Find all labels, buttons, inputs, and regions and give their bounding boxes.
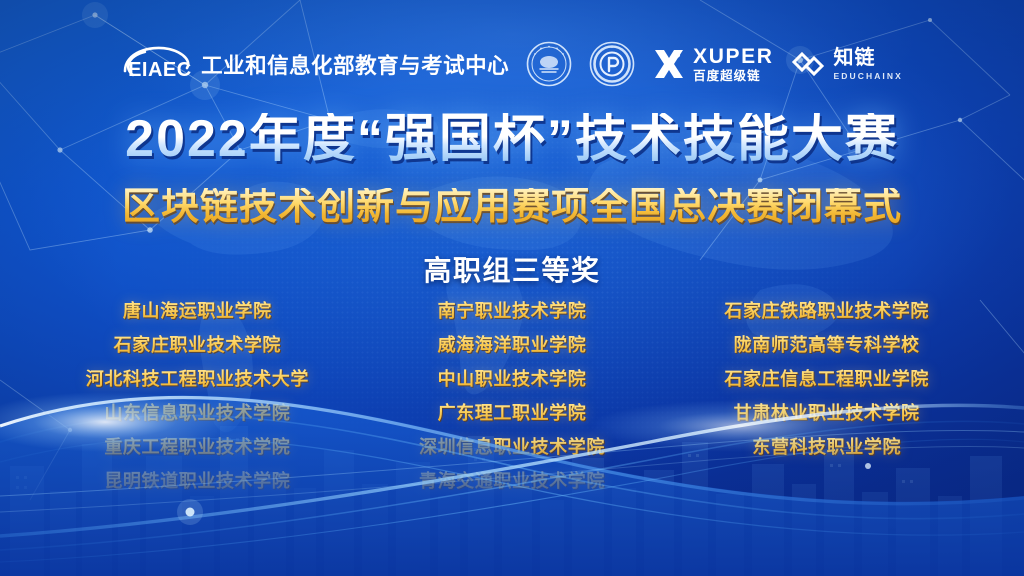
- winner-item: 石家庄铁路职业技术学院: [669, 294, 984, 328]
- eiaec-logo: EIAEC 工业和信息化部教育与考试中心: [121, 44, 509, 84]
- chain-link-icon: [790, 50, 826, 78]
- sponsor-logo-bar: EIAEC 工业和信息化部教育与考试中心: [0, 33, 1024, 95]
- zhilian-name-cn: 知链: [833, 48, 902, 68]
- award-category-label: 高职组三等奖: [0, 249, 1024, 289]
- winner-item: 南宁职业技术学院: [355, 294, 670, 328]
- university-seal-2-icon: [589, 41, 635, 87]
- zhilian-name-en: EDUCHAINX: [833, 72, 902, 81]
- light-wave-decoration: [0, 346, 1024, 576]
- zhilian-logo: 知链 EDUCHAINX: [790, 48, 902, 81]
- university-seal-1-icon: [526, 41, 572, 87]
- xuper-x-icon: [652, 47, 686, 81]
- winner-item: 唐山海运职业学院: [40, 294, 355, 328]
- xuper-name-cn: 百度超级链: [693, 70, 773, 83]
- eiaec-abbr: EIAEC: [128, 59, 192, 82]
- eiaec-fullname: 工业和信息化部教育与考试中心: [201, 49, 509, 80]
- subtitle: 区块链技术创新与应用赛项全国总决赛闭幕式: [0, 188, 1024, 226]
- main-title: 2022年度“强国杯”技术技能大赛: [0, 113, 1024, 165]
- presentation-slide: EIAEC 工业和信息化部教育与考试中心: [0, 0, 1024, 576]
- xuper-name-en: XUPER: [693, 46, 773, 67]
- xuper-logo: XUPER 百度超级链: [652, 46, 773, 83]
- eiaec-icon: EIAEC: [121, 44, 193, 84]
